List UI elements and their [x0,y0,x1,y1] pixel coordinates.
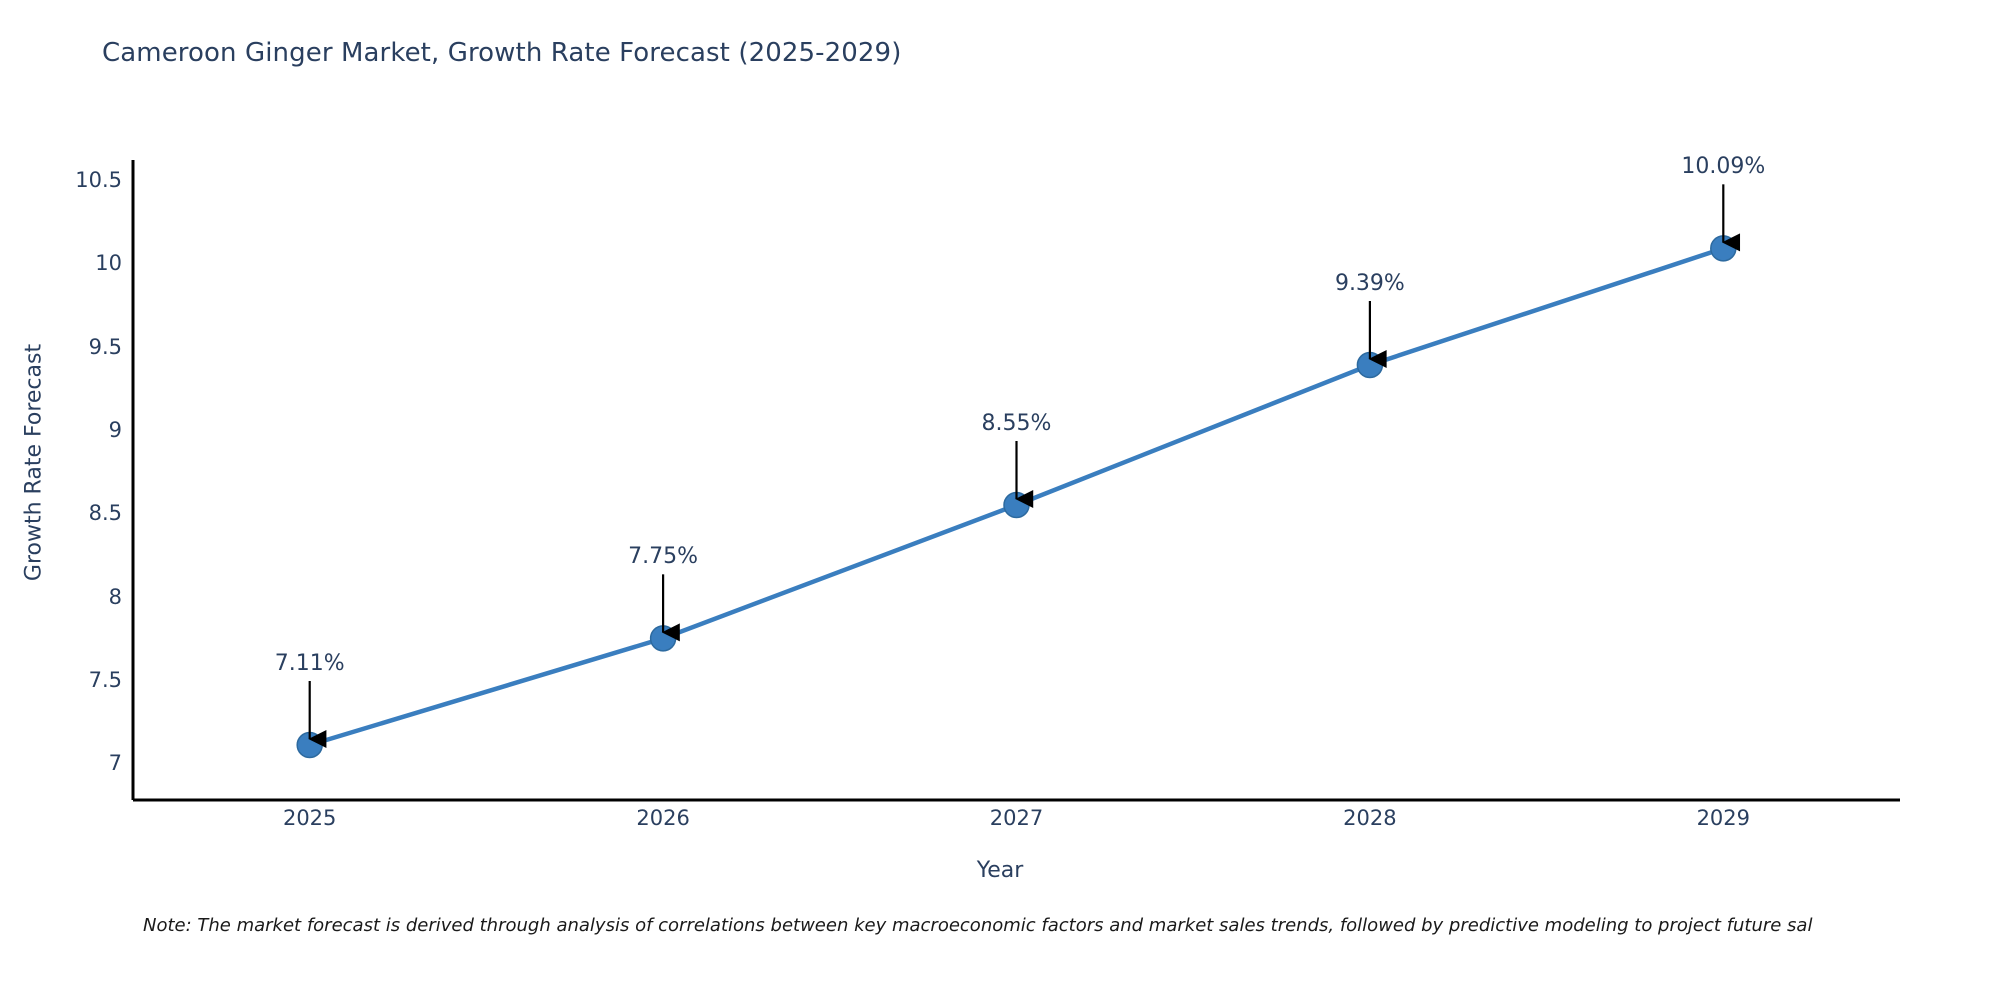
chart-note: Note: The market forecast is derived thr… [143,915,1812,936]
chart-figure: Cameroon Ginger Market, Growth Rate Fore… [0,0,2000,1000]
annotation-arrows [310,184,1724,739]
plot-area [0,0,2000,1000]
